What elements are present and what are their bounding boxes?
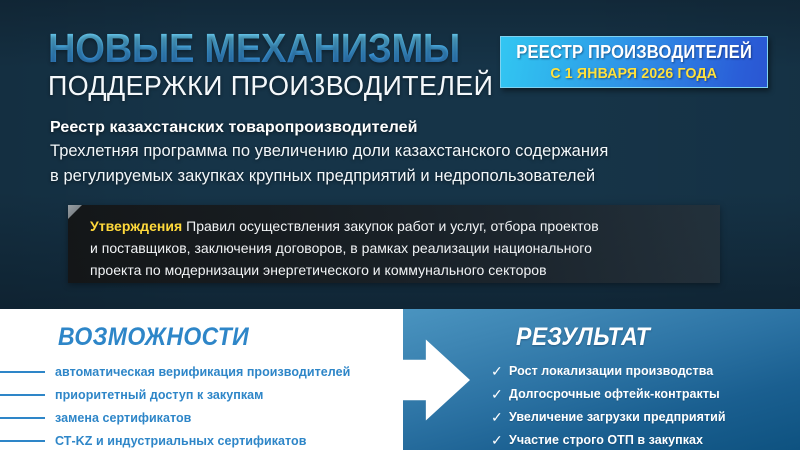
lead-heading: Реестр казахстанских товаропроизводителе… (50, 117, 750, 139)
list-item: ✓ Участие строго ОТП в закупках (491, 430, 726, 450)
page-subtitle: ПОДДЕРЖКИ ПРОИЗВОДИТЕЛЕЙ (48, 70, 493, 102)
opportunities-title: ВОЗМОЖНОСТИ (58, 323, 249, 352)
result-title: РЕЗУЛЬТАТ (516, 323, 650, 352)
list-item-label: приоритетный доступ к закупкам (55, 388, 263, 402)
list-item: приоритетный доступ к закупкам (0, 385, 403, 405)
approvals-line-1-rest: Правил осуществления закупок работ и усл… (182, 218, 598, 234)
list-item-label: Долгосрочные офтейк-контракты (509, 387, 720, 401)
lead-block: Реестр казахстанских товаропроизводителе… (50, 117, 750, 189)
corner-triangle-icon (68, 205, 82, 219)
checkmark-icon: ✓ (491, 431, 509, 449)
list-item: замена сертификатов (0, 408, 403, 428)
checkmark-icon: ✓ (491, 362, 509, 380)
list-item: ✓ Долгосрочные офтейк-контракты (491, 384, 726, 404)
approvals-line-2: и поставщиков, заключения договоров, в р… (90, 237, 706, 259)
checkmark-icon: ✓ (491, 408, 509, 426)
approvals-panel: Утверждения Правил осуществления закупок… (68, 205, 720, 283)
list-item: ✓ Рост локализации производства (491, 361, 726, 381)
registry-date-badge: РЕЕСТР ПРОИЗВОДИТЕЛЕЙ С 1 ЯНВАРЯ 2026 ГО… (500, 36, 768, 88)
page-title: НОВЫЕ МЕХАНИЗМЫ (48, 26, 460, 70)
list-item: автоматическая верификация производителе… (0, 362, 403, 382)
opportunities-section: ВОЗМОЖНОСТИ автоматическая верификация п… (0, 309, 403, 450)
list-item-label: Участие строго ОТП в закупках (509, 433, 703, 447)
list-item-label: Увеличение загрузки предприятий (509, 410, 726, 424)
checkmark-icon: ✓ (491, 385, 509, 403)
approvals-line-1: Утверждения Правил осуществления закупок… (90, 215, 706, 237)
list-item-label: автоматическая верификация производителе… (55, 365, 350, 379)
list-item: СТ-KZ и индустриальных сертификатов (0, 431, 403, 450)
badge-date: С 1 ЯНВАРЯ 2026 ГОДА (551, 65, 718, 82)
lead-paragraph-line-2: в регулируемых закупках крупных предприя… (50, 164, 750, 189)
infographic-root: НОВЫЕ МЕХАНИЗМЫ ПОДДЕРЖКИ ПРОИЗВОДИТЕЛЕЙ… (0, 0, 800, 450)
dash-marker-icon (0, 440, 45, 442)
list-item-label: Рост локализации производства (509, 364, 713, 378)
approvals-keyword: Утверждения (90, 218, 182, 234)
dash-marker-icon (0, 394, 45, 396)
lead-paragraph-line-1: Трехлетняя программа по увеличению доли … (50, 139, 750, 164)
opportunities-list: автоматическая верификация производителе… (0, 362, 403, 450)
approvals-line-3: проекта по модернизации энергетического … (90, 259, 706, 281)
list-item: ✓ Увеличение загрузки предприятий (491, 407, 726, 427)
dash-marker-icon (0, 417, 45, 419)
list-item-label: замена сертификатов (55, 411, 191, 425)
list-item-label: СТ-KZ и индустриальных сертификатов (55, 434, 306, 448)
result-list: ✓ Рост локализации производства ✓ Долгос… (491, 361, 726, 450)
approvals-text: Утверждения Правил осуществления закупок… (90, 215, 706, 281)
dash-marker-icon (0, 371, 45, 373)
badge-title: РЕЕСТР ПРОИЗВОДИТЕЛЕЙ (516, 42, 752, 63)
